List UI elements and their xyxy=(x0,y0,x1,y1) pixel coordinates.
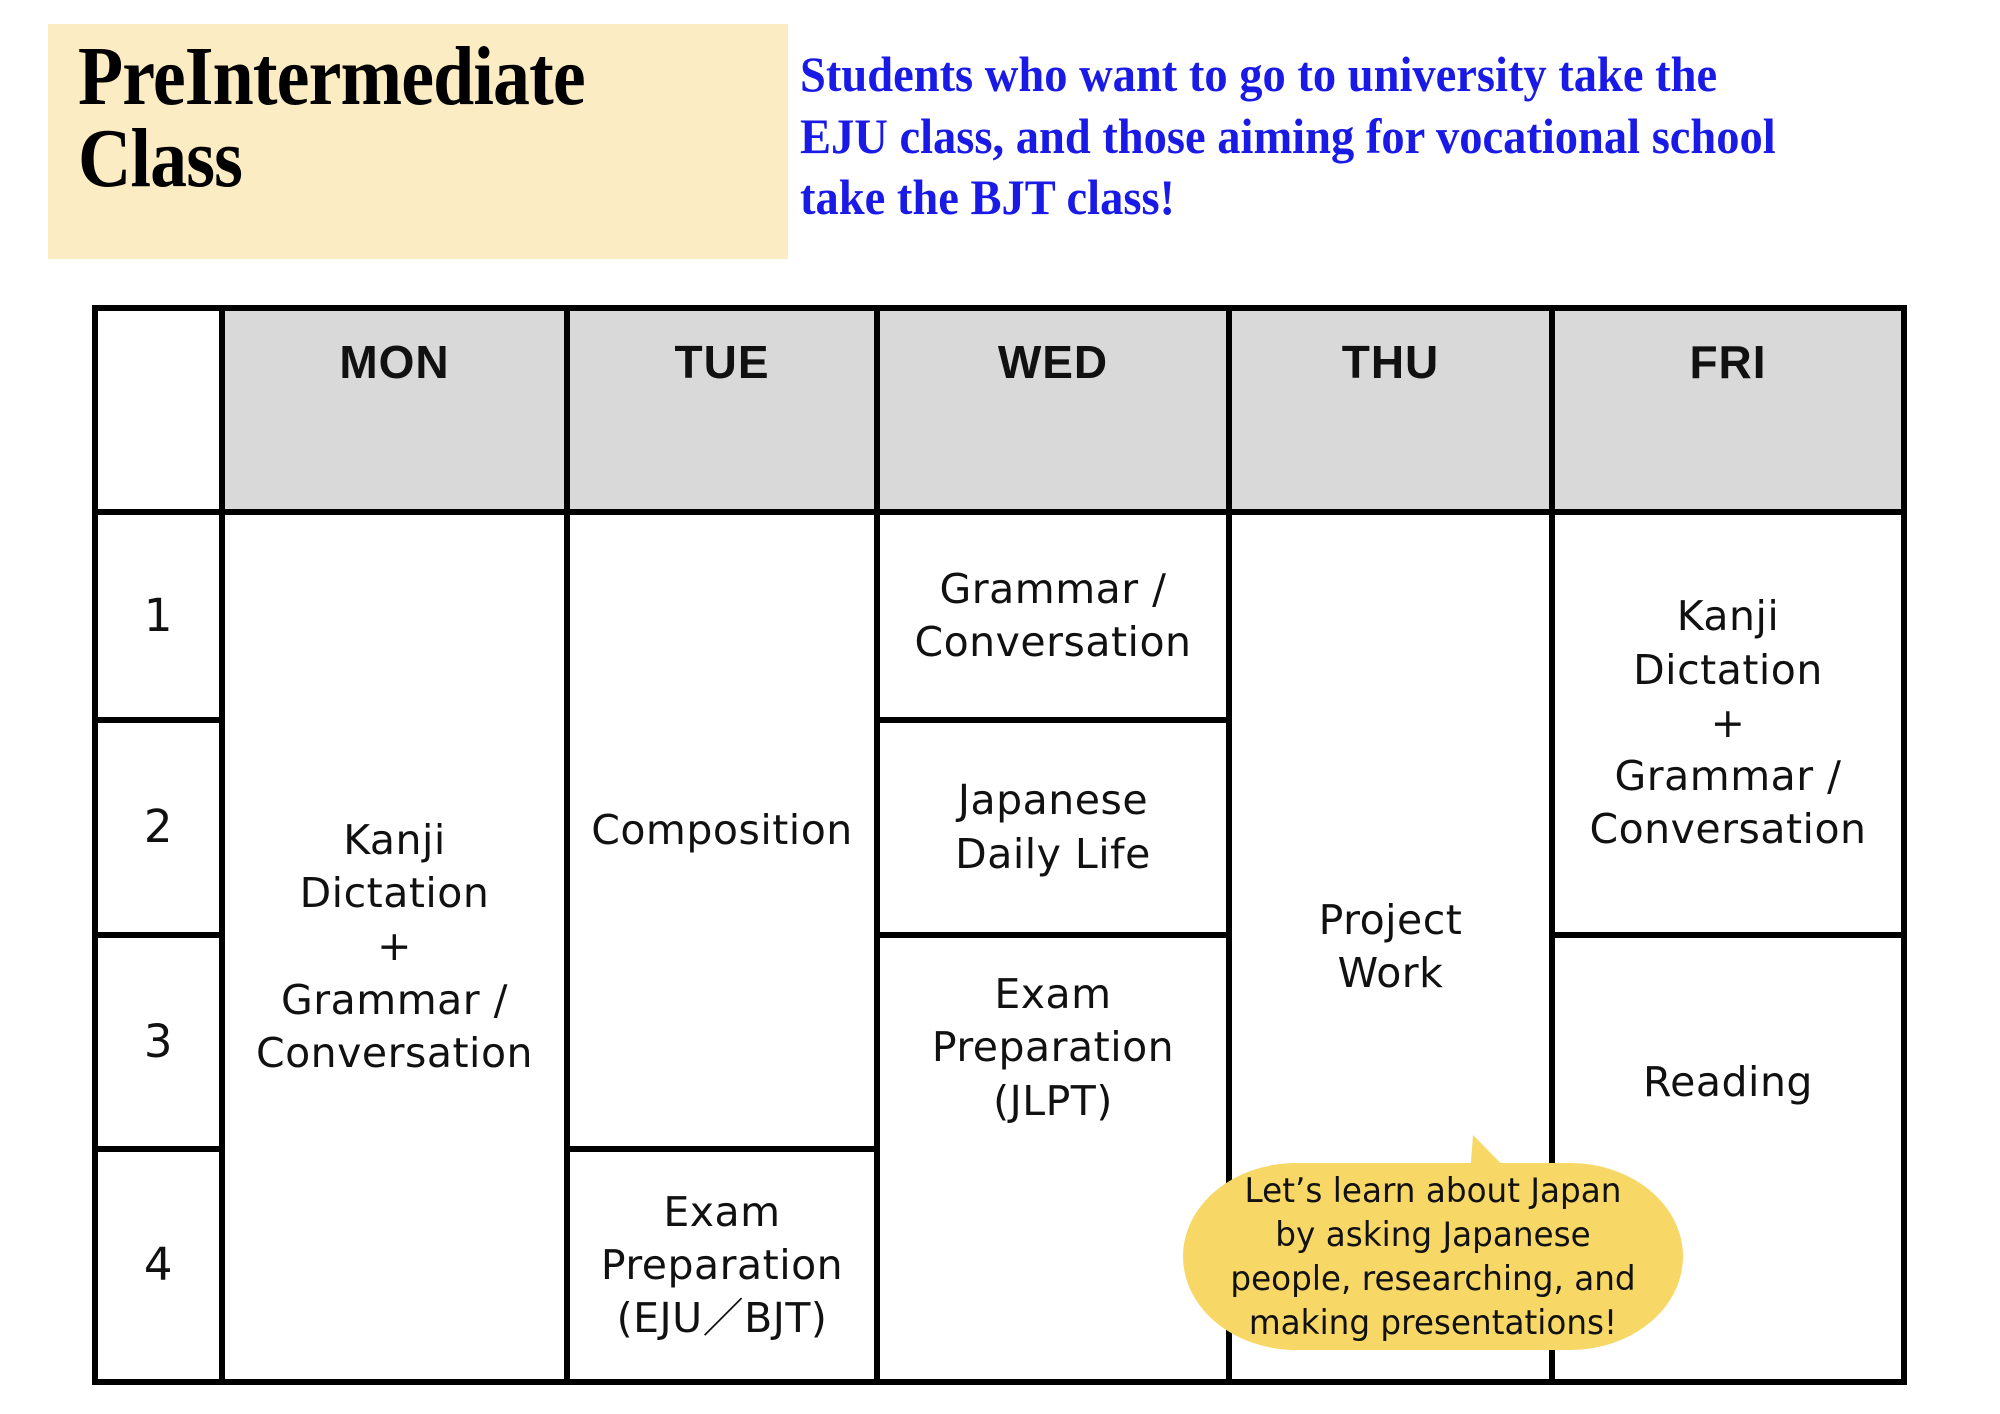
speech-bubble-line-2: by asking Japanese xyxy=(1230,1213,1635,1257)
intro-paragraph: Students who want to go to university ta… xyxy=(800,44,1897,229)
page-title-line-2: Class xyxy=(78,118,694,200)
intro-line-1: Students who want to go to university ta… xyxy=(800,44,1897,106)
header-band: PreIntermediate Class Students who want … xyxy=(0,0,2000,300)
day-header-fri: FRI xyxy=(1555,311,1901,515)
speech-bubble: Let’s learn about Japan by asking Japane… xyxy=(1183,1135,1683,1350)
page-title: PreIntermediate Class xyxy=(78,36,694,201)
cell-wed-period-1: Grammar / Conversation xyxy=(880,515,1232,723)
cell-tue-periods-1-3: Composition xyxy=(570,515,880,1152)
day-header-thu: THU xyxy=(1232,311,1555,515)
cell-tue-period-4: Exam Preparation (EJU／BJT) xyxy=(570,1152,880,1379)
day-header-tue: TUE xyxy=(570,311,880,515)
period-label-1: 1 xyxy=(98,515,225,723)
cell-mon-all-periods: Kanji Dictation + Grammar / Conversation xyxy=(225,515,570,1379)
speech-bubble-line-1: Let’s learn about Japan xyxy=(1230,1169,1635,1213)
cell-fri-periods-1-2: Kanji Dictation + Grammar / Conversation xyxy=(1555,515,1901,938)
period-label-2: 2 xyxy=(98,723,225,938)
speech-bubble-line-3: people, researching, and xyxy=(1230,1257,1635,1301)
day-header-wed: WED xyxy=(880,311,1232,515)
speech-bubble-line-4: making presentations! xyxy=(1230,1301,1635,1345)
day-header-mon: MON xyxy=(225,311,570,515)
period-label-3: 3 xyxy=(98,938,225,1152)
cell-wed-periods-3-4: Exam Preparation (JLPT) xyxy=(880,938,1232,1379)
intro-line-2: EJU class, and those aiming for vocation… xyxy=(800,106,1897,168)
timetable-corner-cell xyxy=(98,311,225,515)
period-label-4: 4 xyxy=(98,1152,225,1379)
page-title-line-1: PreIntermediate xyxy=(78,36,694,118)
intro-line-3: take the BJT class! xyxy=(800,167,1897,229)
speech-bubble-text: Let’s learn about Japan by asking Japane… xyxy=(1206,1171,1659,1343)
cell-wed-period-2: Japanese Daily Life xyxy=(880,723,1232,938)
